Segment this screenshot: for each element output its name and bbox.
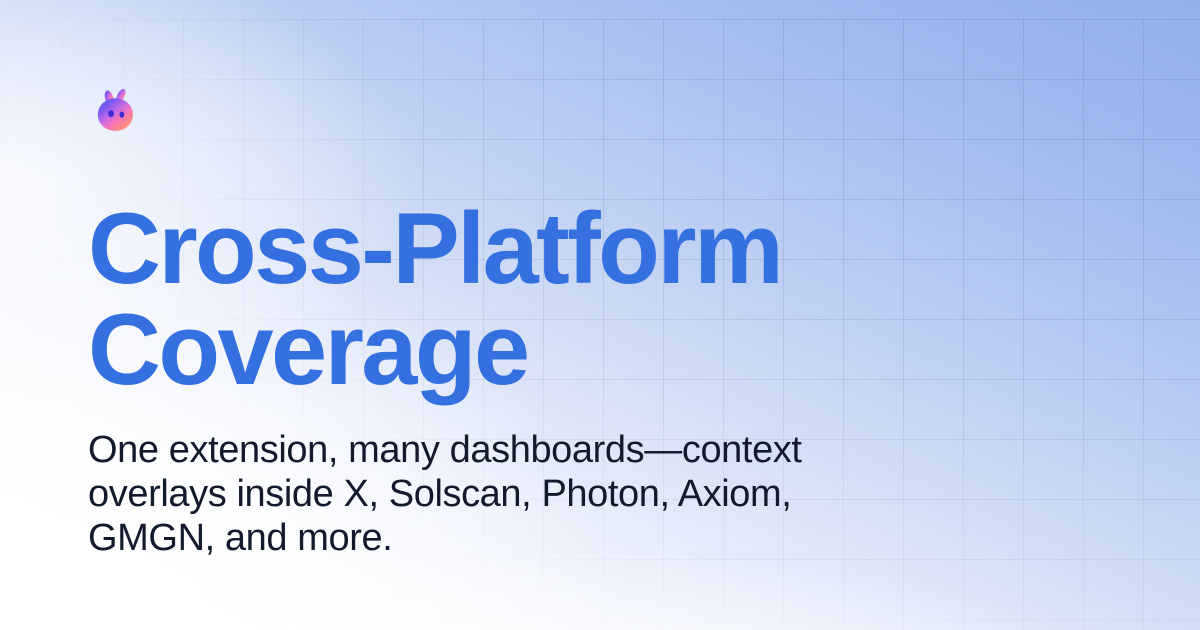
page-subtitle: One extension, many dashboards—context o…: [88, 428, 848, 560]
subhead-line-3: GMGN, and more.: [88, 516, 848, 560]
page-title: Cross-Platform Coverage: [88, 199, 908, 401]
bunny-logo-icon: [88, 82, 144, 138]
og-card: Cross-Platform Coverage One extension, m…: [0, 0, 1200, 630]
headline-line-1: Cross-Platform: [88, 199, 908, 300]
bunny-logo-svg: [88, 82, 144, 138]
subhead-line-2: overlays inside X, Solscan, Photon, Axio…: [88, 472, 848, 516]
subhead-line-1: One extension, many dashboards—context: [88, 428, 848, 472]
content-block: Cross-Platform Coverage One extension, m…: [88, 0, 988, 630]
headline-line-2: Coverage: [88, 300, 908, 401]
